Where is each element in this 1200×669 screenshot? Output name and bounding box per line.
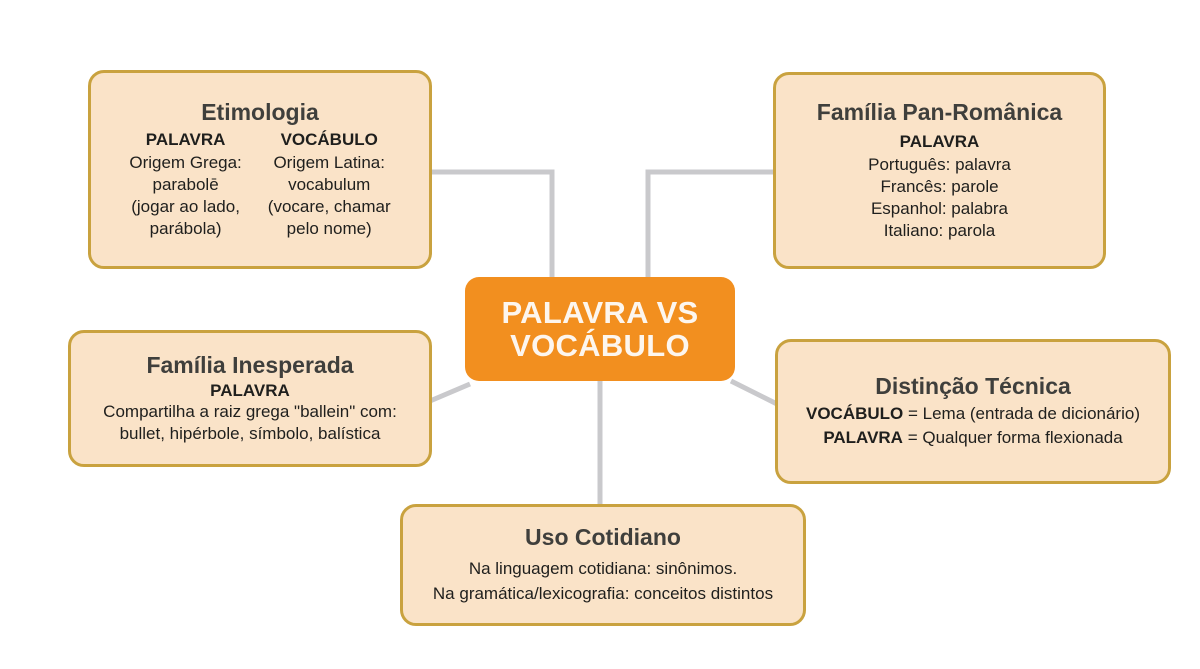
node-etimologia-vocabulo-line-4: pelo nome)	[287, 218, 372, 240]
connector-center-to-etimologia	[430, 172, 552, 283]
node-etimologia-vocabulo-line-1: Origem Latina:	[273, 152, 385, 174]
node-etimologia-vocabulo-line-3: (vocare, chamar	[268, 196, 391, 218]
node-familia-pan-romanica-heading: PALAVRA	[900, 131, 980, 152]
node-etimologia-title: Etimologia	[201, 99, 319, 125]
node-uso-cotidiano-title: Uso Cotidiano	[525, 524, 681, 550]
node-distincao-tecnica-row-1: VOCÁBULO = Lema (entrada de dicionário)	[806, 402, 1140, 426]
node-familia-pan-romanica-line-1: Português: palavra	[868, 154, 1011, 176]
node-familia-inesperada-line-1: Compartilha a raiz grega "ballein" com:	[103, 401, 397, 423]
connector-center-to-familia-inesperada	[430, 384, 470, 401]
connector-center-to-pan-romanica	[648, 172, 775, 283]
node-uso-cotidiano[interactable]: Uso Cotidiano Na linguagem cotidiana: si…	[400, 504, 806, 626]
node-etimologia-palavra-heading: PALAVRA	[146, 129, 226, 150]
node-distincao-tecnica-row-1-term: VOCÁBULO	[806, 404, 903, 423]
node-distincao-tecnica-row-2: PALAVRA = Qualquer forma flexionada	[823, 426, 1122, 450]
node-etimologia-palavra-line-2: parabolē	[152, 174, 218, 196]
node-etimologia-palavra-line-3: (jogar ao lado,	[131, 196, 240, 218]
node-etimologia-vocabulo-line-2: vocabulum	[288, 174, 370, 196]
node-familia-pan-romanica-line-3: Espanhol: palabra	[871, 198, 1008, 220]
node-distincao-tecnica-row-2-term: PALAVRA	[823, 428, 903, 447]
node-etimologia-column-vocabulo: VOCÁBULO Origem Latina: vocabulum (vocar…	[268, 129, 391, 240]
node-uso-cotidiano-line-2: Na gramática/lexicografia: conceitos dis…	[433, 582, 773, 607]
node-distincao-tecnica-row-1-definition: = Lema (entrada de dicionário)	[903, 404, 1140, 423]
node-familia-pan-romanica-line-4: Italiano: parola	[884, 220, 996, 242]
node-etimologia-body: PALAVRA Origem Grega: parabolē (jogar ao…	[129, 129, 390, 240]
node-distincao-tecnica[interactable]: Distinção Técnica VOCÁBULO = Lema (entra…	[775, 339, 1171, 484]
connector-center-to-distincao-tecnica	[731, 381, 777, 404]
node-familia-pan-romanica-title: Família Pan-Românica	[817, 99, 1062, 125]
node-etimologia-vocabulo-heading: VOCÁBULO	[281, 129, 378, 150]
center-node[interactable]: PALAVRA VS VOCÁBULO	[465, 277, 735, 381]
center-node-line-1: PALAVRA VS	[501, 295, 698, 330]
node-distincao-tecnica-title: Distinção Técnica	[875, 373, 1071, 399]
node-familia-inesperada-line-2: bullet, hipérbole, símbolo, balística	[120, 423, 381, 445]
node-etimologia-palavra-line-1: Origem Grega:	[129, 152, 241, 174]
node-familia-inesperada-heading: PALAVRA	[210, 380, 290, 401]
node-etimologia-column-palavra: PALAVRA Origem Grega: parabolē (jogar ao…	[129, 129, 241, 240]
node-distincao-tecnica-row-2-definition: = Qualquer forma flexionada	[903, 428, 1123, 447]
node-familia-inesperada-title: Família Inesperada	[146, 352, 353, 378]
node-familia-inesperada[interactable]: Família Inesperada PALAVRA Compartilha a…	[68, 330, 432, 467]
center-node-line-2: VOCÁBULO	[510, 328, 690, 363]
node-familia-pan-romanica-line-2: Francês: parole	[880, 176, 998, 198]
node-etimologia-palavra-line-4: parábola)	[150, 218, 222, 240]
mindmap-canvas: PALAVRA VS VOCÁBULO Etimologia PALAVRA O…	[0, 0, 1200, 669]
node-etimologia[interactable]: Etimologia PALAVRA Origem Grega: parabol…	[88, 70, 432, 269]
center-node-title: PALAVRA VS VOCÁBULO	[501, 296, 698, 363]
node-familia-pan-romanica[interactable]: Família Pan-Românica PALAVRA Português: …	[773, 72, 1106, 269]
node-uso-cotidiano-line-1: Na linguagem cotidiana: sinônimos.	[469, 557, 737, 582]
